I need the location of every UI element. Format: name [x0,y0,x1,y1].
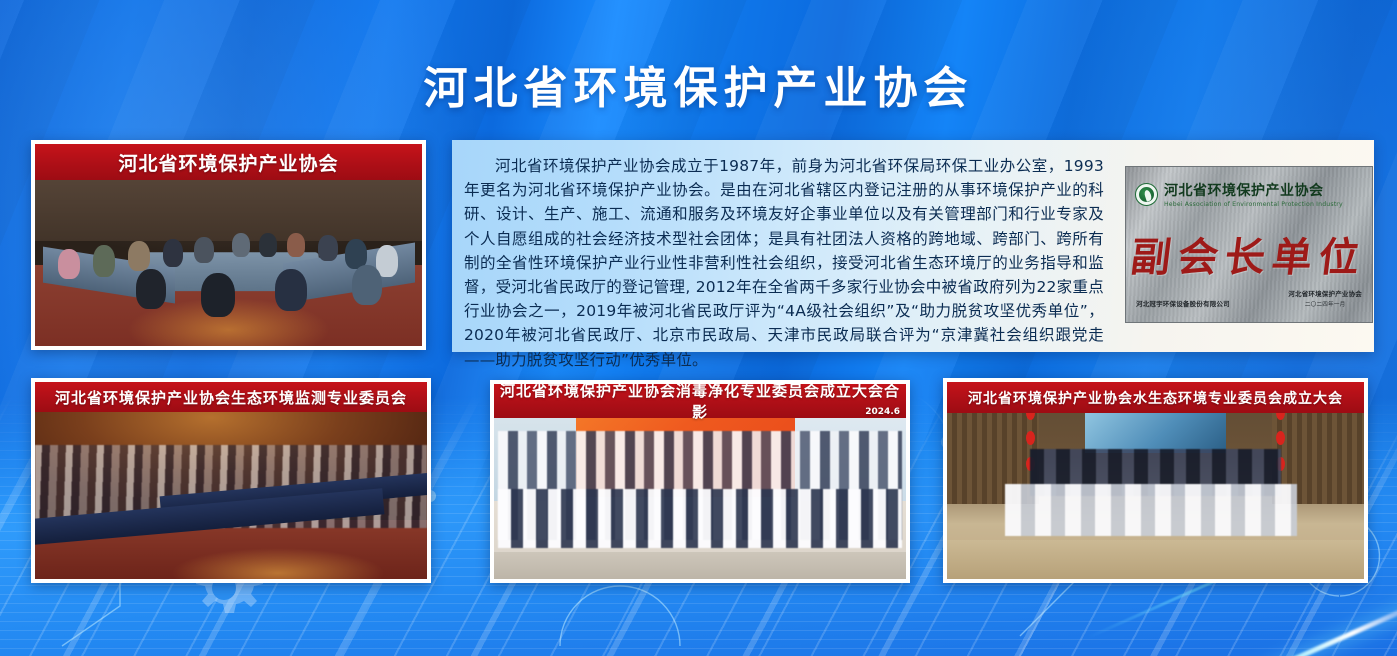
plaque-org-titles: 河北省环境保护产业协会 Hebei Association of Environ… [1164,180,1363,208]
photo-card-disinfection-purification-committee[interactable]: 河北省环境保护产业协会消毒净化专业委员会成立大会合影 2024.6 [490,380,910,583]
plaque-container[interactable]: 河北省环境保护产业协会 Hebei Association of Environ… [1125,166,1373,323]
plaque-footer: 河北冠宇环保设备股份有限公司 河北省环境保护产业协会 二〇二四年一月 [1136,288,1362,308]
photo-person [194,237,214,263]
photo-card-association-meeting[interactable]: 河北省环境保护产业协会 [31,140,426,350]
photo-caption-date: 2024.6 [865,407,900,417]
photo-person [287,233,305,257]
plaque-issue-date: 二〇二四年一月 [1288,300,1362,308]
page-title: 河北省环境保护产业协会 [0,52,1397,116]
photo-detail [35,180,422,241]
photo-detail [494,552,906,579]
plaque-honor-title: 副会长单位 [1122,225,1375,283]
photo-caption-bar: 河北省环境保护产业协会水生态环境专业委员会成立大会 [947,382,1364,413]
photo-person [318,235,338,261]
photo-inner: 河北省环境保护产业协会消毒净化专业委员会成立大会合影 2024.6 [494,384,906,579]
photo-detail-lantern [1276,431,1285,445]
photo-inner: 河北省环境保护产业协会生态环境监测专业委员会 [35,382,427,579]
photo-caption-bar: 河北省环境保护产业协会 [35,144,422,180]
plaque-issuer-name: 河北省环境保护产业协会 [1288,288,1362,298]
photo-person [128,241,150,271]
plaque-org-name-en: Hebei Association of Environmental Prote… [1164,201,1363,208]
photo-detail [947,540,1364,579]
photo-inner: 河北省环境保护产业协会 [35,144,422,346]
vice-chairman-unit-plaque: 河北省环境保护产业协会 Hebei Association of Environ… [1125,166,1373,323]
plaque-org-name-cn: 河北省环境保护产业协会 [1164,180,1363,200]
introduction-paragraph: 河北省环境保护产业协会成立于1987年，前身为河北省环保局环保工业办公室，199… [464,154,1104,372]
photo-inner: 河北省环境保护产业协会水生态环境专业委员会成立大会 [947,382,1364,579]
plaque-header: 河北省环境保护产业协会 Hebei Association of Environ… [1135,180,1363,208]
plaque-issuer-block: 河北省环境保护产业协会 二〇二四年一月 [1288,288,1362,308]
photo-detail-people-row-front [498,489,902,548]
introduction-text-block: 河北省环境保护产业协会成立于1987年，前身为河北省环保局环保工业办公室，199… [452,140,1112,352]
photo-caption-bar: 河北省环境保护产业协会消毒净化专业委员会成立大会合影 2024.6 [494,384,906,418]
photo-card-eco-monitoring-committee[interactable]: 河北省环境保护产业协会生态环境监测专业委员会 [31,378,431,583]
leaf-circle-icon [1135,183,1158,206]
photo-detail-people-row-front [1005,484,1297,535]
photo-person [93,245,115,277]
photo-card-water-ecology-committee[interactable]: 河北省环境保护产业协会水生态环境专业委员会成立大会 [943,378,1368,583]
photo-person [136,269,166,309]
photo-person [352,265,382,305]
photo-person [58,249,80,279]
plaque-company-name: 河北冠宇环保设备股份有限公司 [1136,298,1230,308]
photo-caption-bar: 河北省环境保护产业协会生态环境监测专业委员会 [35,382,427,412]
photo-person [232,233,250,257]
photo-caption-text: 河北省环境保护产业协会 [118,149,338,176]
photo-person [163,239,183,267]
photo-person [259,233,277,257]
photo-caption-text: 河北省环境保护产业协会消毒净化专业委员会成立大会合影 [494,384,906,422]
photo-caption-text: 河北省环境保护产业协会生态环境监测专业委员会 [55,387,407,408]
photo-person [201,273,235,317]
photo-caption-text: 河北省环境保护产业协会水生态环境专业委员会成立大会 [968,388,1343,408]
photo-person [275,269,307,311]
